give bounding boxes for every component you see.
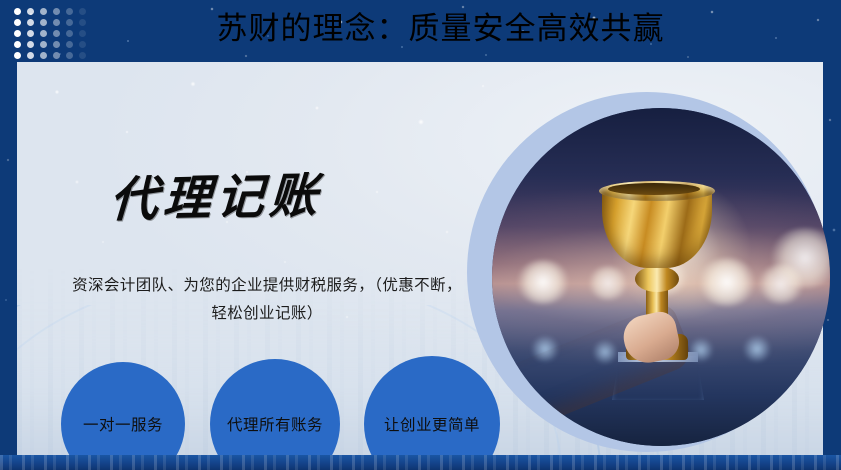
header-bar: 苏财的理念：质量安全高效共赢 <box>0 0 841 62</box>
trophy-rim-inner <box>608 183 700 195</box>
bottom-skyline-band <box>0 455 841 470</box>
feature-badge-2-label: 代理所有账务 <box>227 413 323 435</box>
trophy-knob <box>635 266 679 292</box>
trophy-base <box>612 356 704 400</box>
trophy-photo <box>492 108 830 446</box>
trophy-photo-composition <box>470 62 823 455</box>
trophy-rim <box>599 181 715 201</box>
feature-badge-1-label: 一对一服务 <box>83 413 163 435</box>
bokeh-light <box>742 336 772 362</box>
service-description: 资深会计团队、为您的企业提供财税服务，（优惠不断，轻松创业记账） <box>72 272 462 328</box>
slide-canvas: 苏财的理念：质量安全高效共赢 代理记账 资深会计团队、为您的企业提供财税服务，（… <box>0 0 841 470</box>
feature-badge-3-label: 让创业更简单 <box>384 413 480 435</box>
bokeh-light <box>516 260 570 304</box>
trophy-icon <box>602 186 722 416</box>
trophy-bowl <box>602 186 712 268</box>
service-title: 代理记账 <box>108 168 323 230</box>
page-title: 苏财的理念：质量安全高效共赢 <box>0 4 841 54</box>
bokeh-light <box>758 264 804 304</box>
